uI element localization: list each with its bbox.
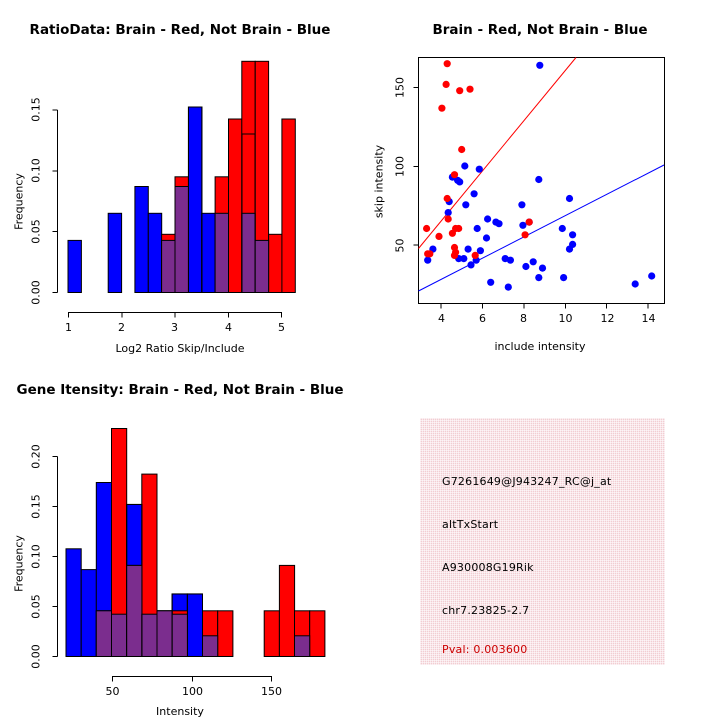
gene-info-panel: G7261649@J943247_RC@j_at altTxStart A930… — [420, 418, 665, 665]
gene-ytick-2: 0.10 — [30, 542, 43, 572]
scatter-xtick-4: 12 — [596, 312, 619, 325]
scatter-ytick-2: 150 — [394, 72, 407, 104]
gene-ytick-0: 0.00 — [30, 642, 43, 672]
ratio-xtick-2: 3 — [164, 321, 185, 334]
gene-symbol-text: A930008G19Rik — [442, 561, 534, 574]
gene-ytick-1: 0.05 — [30, 592, 43, 622]
ratio-ytick-0: 0.00 — [30, 278, 43, 308]
gene-y-axis-title: Frequency — [13, 524, 26, 604]
scatter-ytick-0: 50 — [394, 233, 407, 259]
gene-xtick-1: 100 — [177, 685, 208, 698]
ratio-xtick-0: 1 — [58, 321, 79, 334]
panel-intensity-scatter: Brain - Red, Not Brain - Blue — [360, 0, 720, 360]
scatter-ytick-1: 100 — [394, 151, 407, 183]
gene-xtick-2: 150 — [256, 685, 287, 698]
event-type-text: altTxStart — [442, 518, 498, 531]
gene-x-axis-title: Intensity — [0, 705, 360, 718]
scatter-title: Brain - Red, Not Brain - Blue — [360, 22, 720, 38]
ratio-histogram-title: RatioData: Brain - Red, Not Brain - Blue — [0, 22, 360, 38]
ratio-x-axis-title: Log2 Ratio Skip/Include — [0, 342, 360, 355]
gene-ytick-4: 0.20 — [30, 442, 43, 472]
gene-histogram-plot — [0, 360, 360, 720]
ratio-ytick-3: 0.15 — [30, 95, 43, 125]
scatter-xtick-0: 4 — [431, 312, 452, 325]
scatter-x-axis-title: include intensity — [360, 340, 720, 353]
panel-gene-intensity-histogram: Gene Itensity: Brain - Red, Not Brain - … — [0, 360, 360, 720]
pvalue-text: Pval: 0.003600 — [442, 643, 527, 656]
ratio-histogram-plot — [0, 0, 360, 360]
scatter-xtick-1: 6 — [472, 312, 493, 325]
gene-ytick-3: 0.15 — [30, 492, 43, 522]
ratio-ytick-1: 0.05 — [30, 217, 43, 247]
scatter-xtick-5: 14 — [637, 312, 660, 325]
scatter-xtick-3: 10 — [554, 312, 577, 325]
panel-ratio-histogram: RatioData: Brain - Red, Not Brain - Blue — [0, 0, 360, 360]
ratio-xtick-1: 2 — [111, 321, 132, 334]
scatter-plot — [360, 0, 720, 360]
ratio-ytick-2: 0.10 — [30, 156, 43, 186]
location-text: chr7.23825-2.7 — [442, 604, 529, 617]
scatter-xtick-2: 8 — [513, 312, 534, 325]
ratio-y-axis-title: Frequency — [13, 162, 26, 242]
ratio-xtick-4: 5 — [271, 321, 292, 334]
gene-histogram-title: Gene Itensity: Brain - Red, Not Brain - … — [0, 382, 360, 398]
ratio-xtick-3: 4 — [218, 321, 239, 334]
gene-xtick-0: 50 — [100, 685, 125, 698]
scatter-y-axis-title: skip intensity — [373, 142, 386, 222]
not-brain-points — [424, 62, 655, 291]
figure-canvas: RatioData: Brain - Red, Not Brain - Blue — [0, 0, 720, 720]
probe-id-text: G7261649@J943247_RC@j_at — [442, 475, 611, 488]
